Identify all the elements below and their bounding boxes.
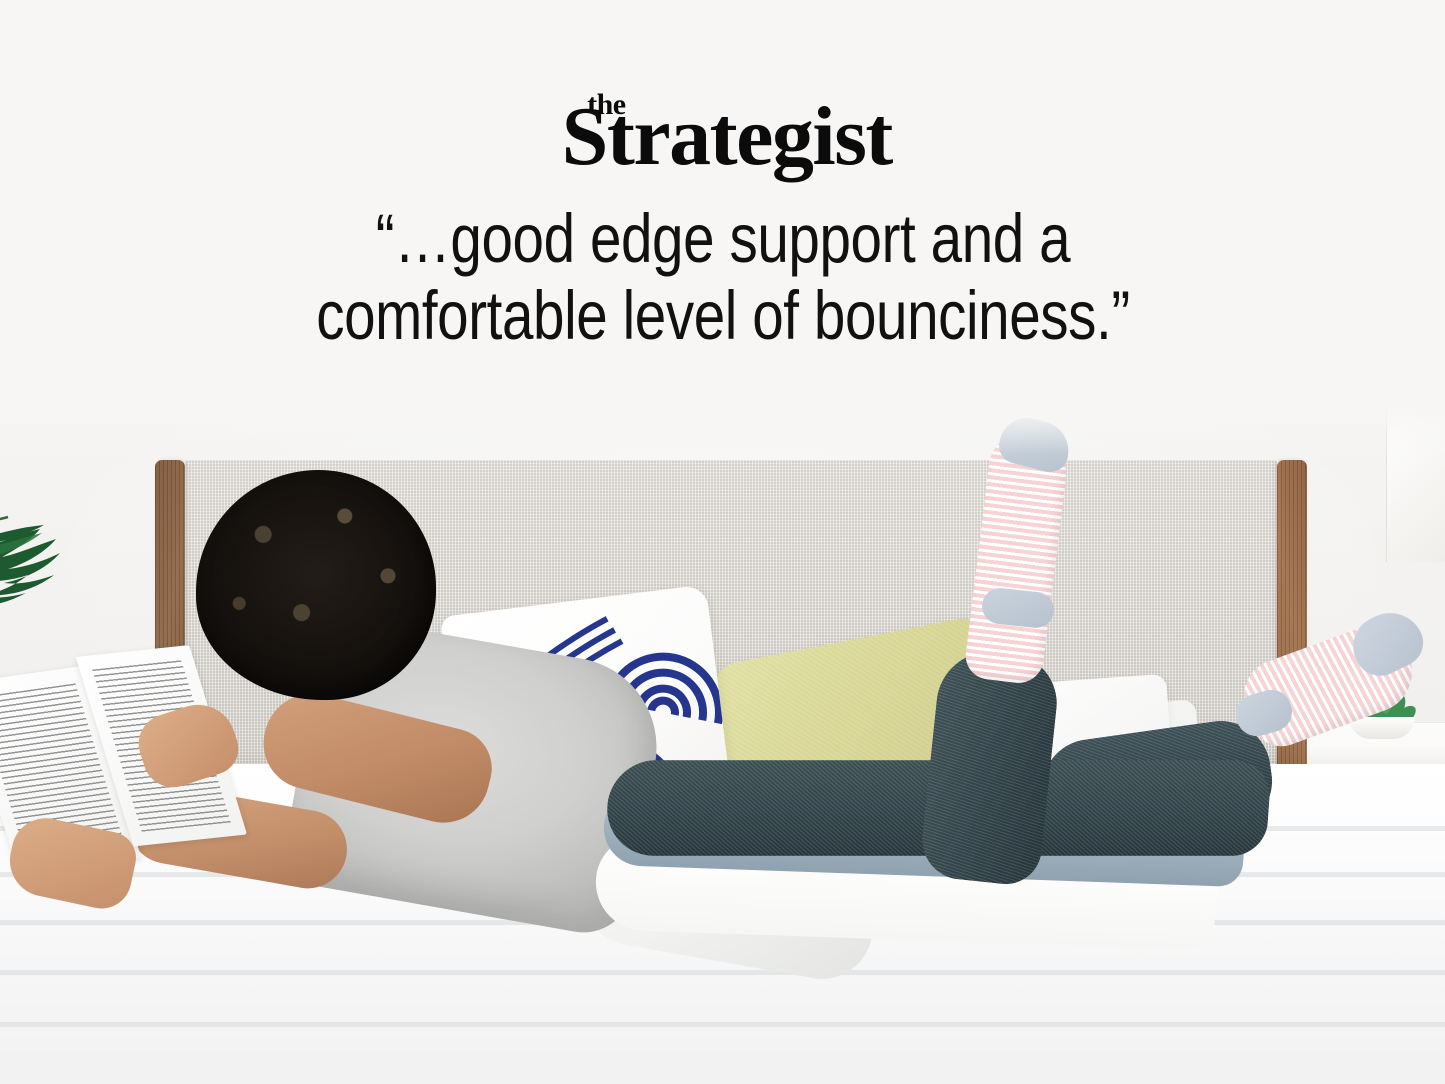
- leg-near-raised: [918, 646, 1061, 887]
- quote-line-1: “…good edge support and a: [239, 200, 1207, 277]
- quote-line-2: comfortable level of bounciness.”: [239, 277, 1207, 354]
- quote-card: the Strategist “…good edge support and a…: [0, 0, 1445, 1084]
- logo-prefix-text: the: [587, 90, 626, 120]
- person-reading: [0, 392, 1445, 1084]
- text-block: the Strategist “…good edge support and a…: [0, 0, 1445, 400]
- pull-quote: “…good edge support and a comfortable le…: [239, 200, 1207, 355]
- curly-hair: [196, 470, 436, 700]
- strategist-logo: the Strategist: [553, 96, 892, 182]
- lifestyle-photo: [0, 392, 1445, 1084]
